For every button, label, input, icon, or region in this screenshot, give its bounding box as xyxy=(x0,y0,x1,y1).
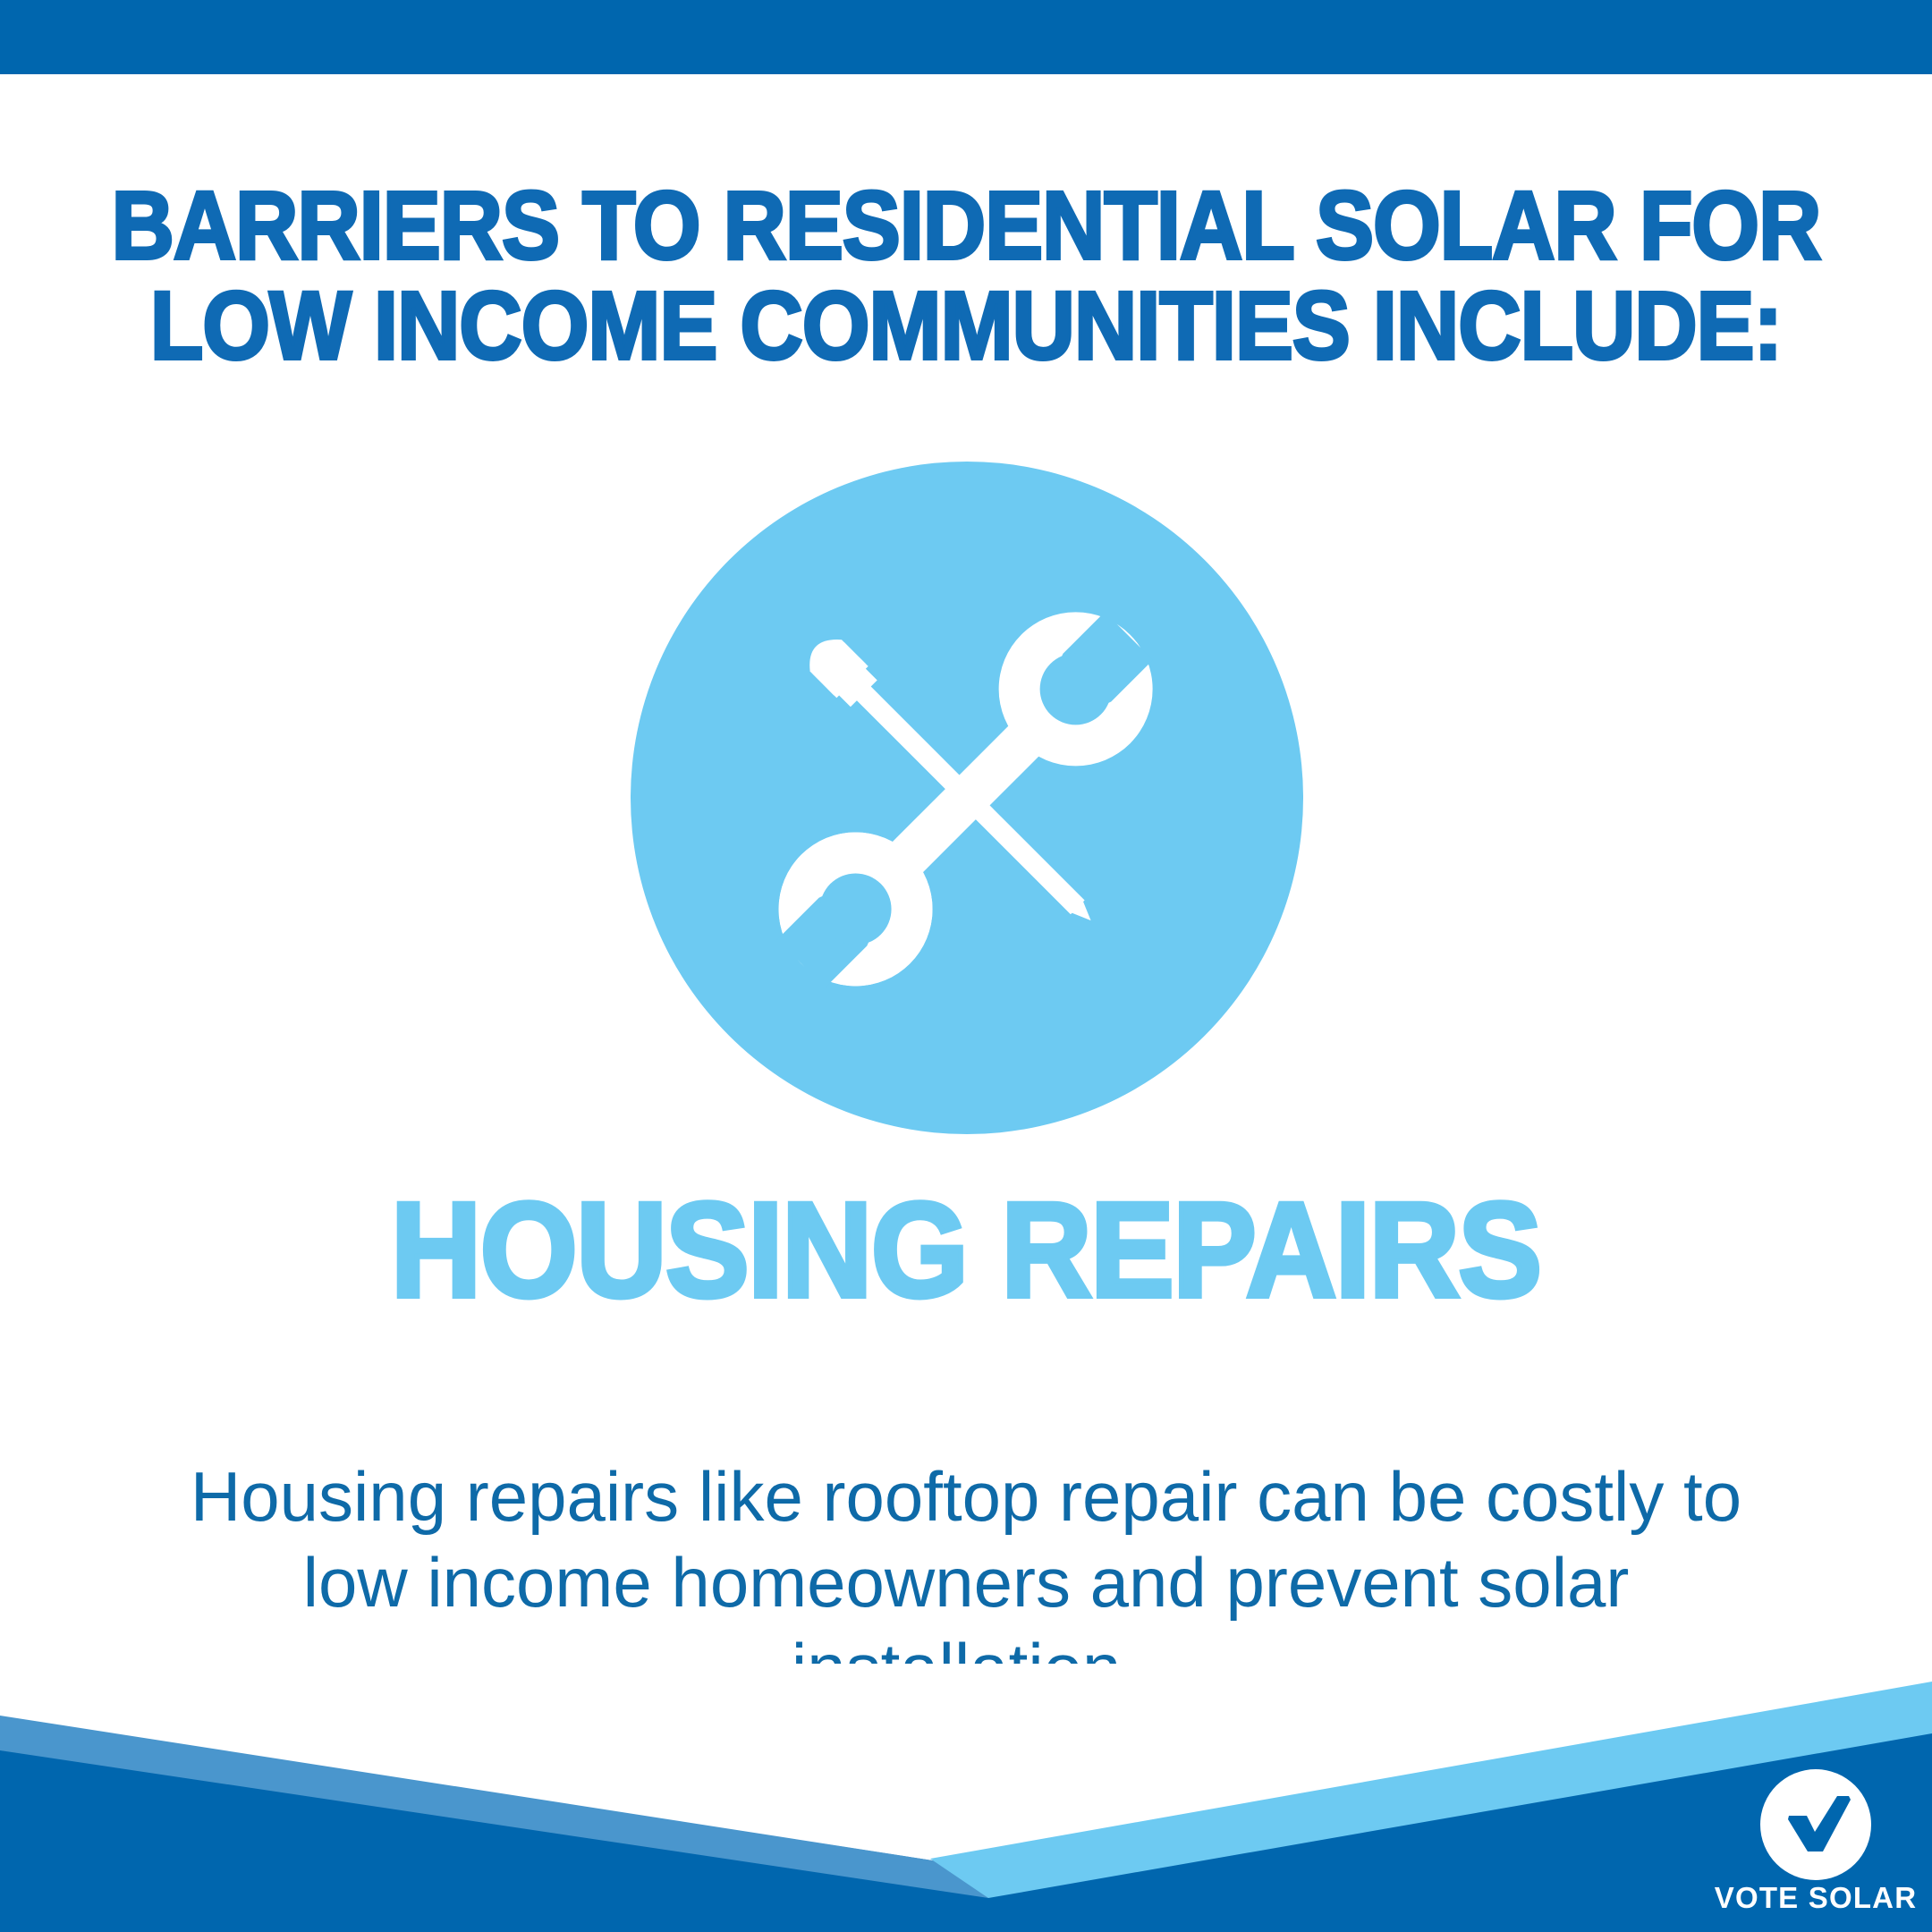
top-accent-bar xyxy=(0,0,1932,74)
brand-logo[interactable]: VOTE SOLAR xyxy=(1710,1769,1921,1921)
page-title-line-2: LOW INCOME COMMUNITIES INCLUDE: xyxy=(97,275,1835,376)
icon-badge xyxy=(631,462,1303,1134)
checkmark-icon xyxy=(1760,1769,1871,1880)
tools-wrench-screwdriver-icon xyxy=(631,462,1303,1134)
poster-canvas: BARRIERS TO RESIDENTIAL SOLAR FOR LOW IN… xyxy=(0,0,1932,1932)
brand-wordmark: VOTE SOLAR xyxy=(1710,1882,1921,1914)
footer-chevron-banner xyxy=(0,1664,1932,1932)
category-heading: HOUSING REPAIRS xyxy=(68,1182,1865,1317)
page-title-line-1: BARRIERS TO RESIDENTIAL SOLAR FOR xyxy=(97,175,1835,275)
page-title: BARRIERS TO RESIDENTIAL SOLAR FOR LOW IN… xyxy=(97,175,1835,376)
